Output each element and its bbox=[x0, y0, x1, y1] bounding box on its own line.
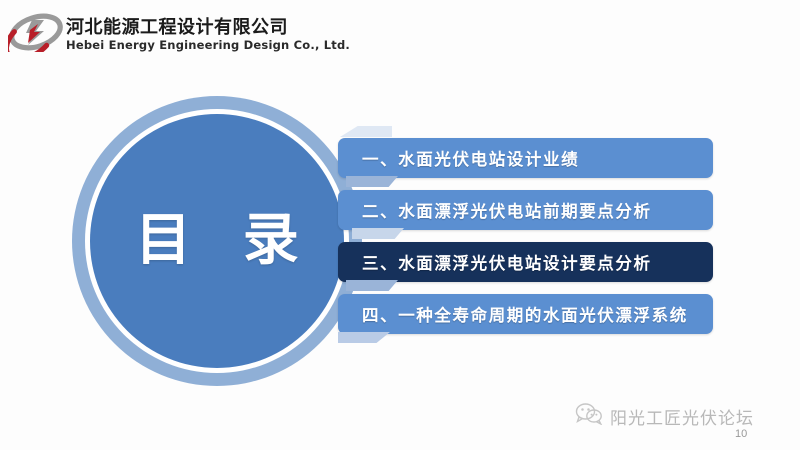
agenda-tab-decoration-3 bbox=[352, 228, 404, 239]
watermark: 阳光工匠光伏论坛 bbox=[575, 402, 754, 430]
company-swoosh-logo-icon bbox=[8, 12, 64, 52]
agenda-item-3[interactable]: 三、水面漂浮光伏电站设计要点分析 bbox=[338, 242, 713, 282]
agenda-tab-decoration-4 bbox=[346, 280, 398, 291]
wechat-icon bbox=[575, 402, 603, 430]
agenda-tab-decoration-1 bbox=[340, 126, 392, 137]
agenda-item-2[interactable]: 二、水面漂浮光伏电站前期要点分析 bbox=[338, 190, 713, 230]
agenda-tab-decoration-5 bbox=[338, 332, 390, 343]
agenda-item-2-label: 二、水面漂浮光伏电站前期要点分析 bbox=[362, 198, 652, 222]
watermark-text: 阳光工匠光伏论坛 bbox=[610, 404, 754, 429]
agenda-list: 一、水面光伏电站设计业绩 二、水面漂浮光伏电站前期要点分析 三、水面漂浮光伏电站… bbox=[316, 128, 716, 338]
agenda-item-3-label: 三、水面漂浮光伏电站设计要点分析 bbox=[362, 250, 652, 274]
agenda-item-4[interactable]: 四、一种全寿命周期的水面光伏漂浮系统 bbox=[338, 294, 713, 334]
agenda-tab-decoration-2 bbox=[346, 176, 398, 187]
company-name-cn: 河北能源工程设计有限公司 bbox=[66, 13, 288, 39]
agenda-item-4-label: 四、一种全寿命周期的水面光伏漂浮系统 bbox=[362, 302, 688, 326]
slide-header: 河北能源工程设计有限公司 Hebei Energy Engineering De… bbox=[0, 0, 800, 62]
company-name-en: Hebei Energy Engineering Design Co., Ltd… bbox=[66, 38, 350, 52]
circle-inner-disc: 目 录 bbox=[90, 114, 344, 368]
agenda-item-1[interactable]: 一、水面光伏电站设计业绩 bbox=[338, 138, 713, 178]
page-number: 10 bbox=[735, 428, 747, 440]
slide-canvas: 河北能源工程设计有限公司 Hebei Energy Engineering De… bbox=[0, 0, 800, 450]
agenda-item-1-label: 一、水面光伏电站设计业绩 bbox=[362, 146, 579, 170]
contents-title: 目 录 bbox=[119, 213, 315, 269]
